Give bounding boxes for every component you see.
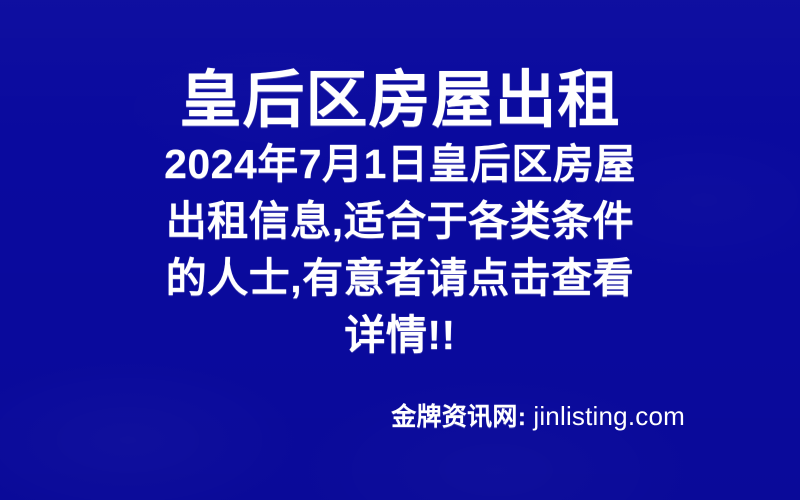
footer-site-url: jinlisting.com	[533, 400, 685, 432]
footer-site-label: 金牌资讯网:	[391, 401, 526, 433]
rental-ad-poster: 皇后区房屋出租 2024年7月1日皇后区房屋 出租信息,适合于各类条件 的人士,…	[0, 0, 800, 500]
poster-body-text: 2024年7月1日皇后区房屋 出租信息,适合于各类条件 的人士,有意者请点击查看…	[118, 136, 682, 364]
body-line: 出租信息,适合于各类条件	[118, 193, 682, 250]
poster-title: 皇后区房屋出租	[0, 64, 800, 138]
poster-footer: 金牌资讯网: jinlisting.com	[391, 400, 685, 433]
body-line: 详情!!	[118, 307, 682, 364]
body-line: 2024年7月1日皇后区房屋	[118, 136, 682, 193]
body-line: 的人士,有意者请点击查看	[118, 250, 682, 307]
